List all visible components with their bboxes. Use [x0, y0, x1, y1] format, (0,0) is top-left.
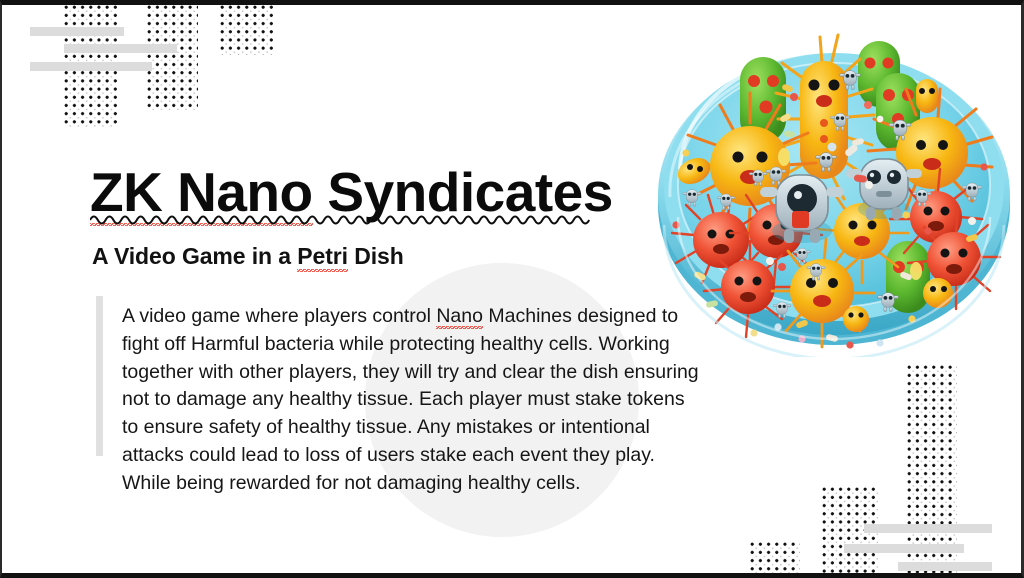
small-yellow-bacterium — [923, 278, 953, 308]
subtitle-misspelled-span: Petri — [297, 243, 348, 272]
small-yellow-bacterium — [843, 306, 869, 332]
petri-dish-illustration — [654, 19, 1014, 357]
body-lead-span: A video game where players control — [122, 305, 436, 327]
decor-bar-top-left-2 — [64, 44, 177, 53]
decor-bar-bottom-right-3 — [898, 562, 992, 571]
subtitle-before-span: A Video Game in a — [92, 243, 297, 269]
body-misspelled-span: Nano — [436, 305, 483, 329]
page-subtitle: A Video Game in a Petri Dish — [92, 243, 404, 270]
body-rest-span: Machines designed to fight off Harmful b… — [122, 305, 699, 494]
body-paragraph: A video game where players control Nano … — [122, 303, 702, 498]
decor-bar-top-left-3 — [30, 62, 152, 71]
decor-dot-block-top-left-3 — [220, 5, 273, 55]
petri-dish-image — [654, 19, 1014, 357]
decor-bar-bottom-right-2 — [844, 544, 964, 553]
body-accent-bar — [96, 296, 103, 456]
small-yellow-bacterium — [916, 79, 938, 113]
decor-bar-bottom-right-1 — [864, 524, 992, 533]
subtitle-after-span: Dish — [348, 243, 404, 269]
presentation-slide: ZK Nano Syndicates A Video Game in a Pet… — [0, 0, 1024, 578]
title-wavy-underline — [90, 211, 590, 225]
decor-dot-block-top-left-2 — [147, 5, 198, 110]
decor-bar-top-left-1 — [30, 27, 124, 36]
decor-dot-block-bottom-right-1 — [750, 542, 800, 578]
